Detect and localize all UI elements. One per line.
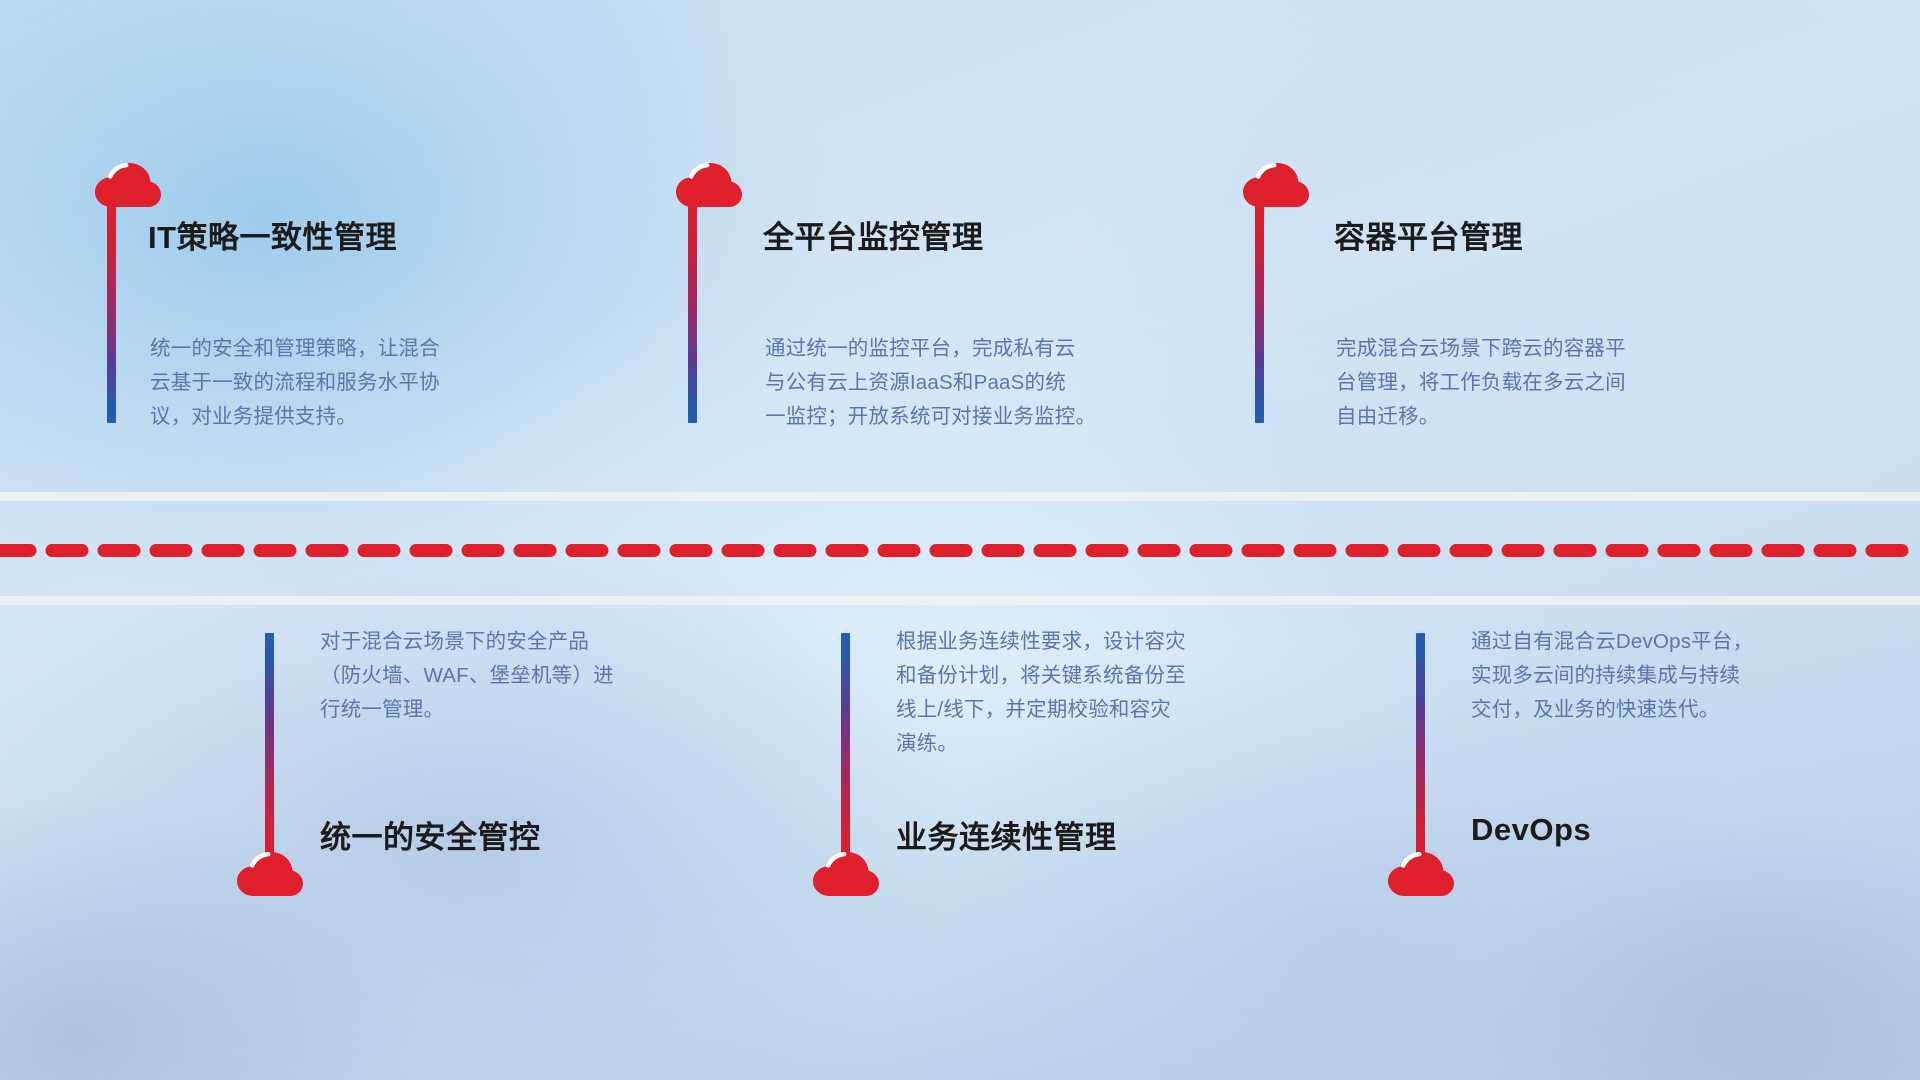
connector-line <box>107 196 116 423</box>
cloud-icon <box>812 849 880 897</box>
cloud-icon <box>675 160 743 208</box>
description-line: 与公有云上资源IaaS和PaaS的统 <box>765 366 1157 400</box>
description-line: 台管理，将工作负载在多云之间 <box>1336 366 1708 400</box>
description-line: 和备份计划，将关键系统备份至 <box>896 659 1268 693</box>
description-line: 通过统一的监控平台，完成私有云 <box>765 332 1157 366</box>
description-line: 实现多云间的持续集成与持续 <box>1471 659 1843 693</box>
item-title: IT策略一致性管理 <box>148 212 397 257</box>
description-line: 通过自有混合云DevOps平台， <box>1471 625 1843 659</box>
item-title: 统一的安全管控 <box>320 812 541 857</box>
cloud-icon <box>236 849 304 897</box>
item-description: 根据业务连续性要求，设计容灾 和备份计划，将关键系统备份至 线上/线下，并定期校… <box>896 625 1268 761</box>
item-description: 通过统一的监控平台，完成私有云 与公有云上资源IaaS和PaaS的统 一监控；开… <box>765 332 1157 434</box>
description-line: 统一的安全和管理策略，让混合 <box>150 332 522 366</box>
description-line: 一监控；开放系统可对接业务监控。 <box>765 400 1157 434</box>
connector-line <box>688 196 697 423</box>
description-line: 议，对业务提供支持。 <box>150 400 522 434</box>
infographic-canvas: IT策略一致性管理 统一的安全和管理策略，让混合 云基于一致的流程和服务水平协 … <box>0 0 1920 1080</box>
connector-line <box>841 633 850 865</box>
dashed-timeline-axis <box>0 544 1920 557</box>
divider-rule-top <box>0 492 1920 501</box>
description-line: 演练。 <box>896 727 1268 761</box>
item-title: DevOps <box>1471 812 1591 848</box>
description-line: 行统一管理。 <box>320 693 692 727</box>
connector-line <box>1416 633 1425 865</box>
connector-line <box>1255 196 1264 423</box>
cloud-icon <box>1242 160 1310 208</box>
item-description: 通过自有混合云DevOps平台， 实现多云间的持续集成与持续 交付，及业务的快速… <box>1471 625 1843 727</box>
divider-rule-bottom <box>0 596 1920 605</box>
description-line: 线上/线下，并定期校验和容灾 <box>896 693 1268 727</box>
item-description: 对于混合云场景下的安全产品 （防火墙、WAF、堡垒机等）进 行统一管理。 <box>320 625 692 727</box>
description-line: 对于混合云场景下的安全产品 <box>320 625 692 659</box>
connector-line <box>265 633 274 865</box>
description-line: 交付，及业务的快速迭代。 <box>1471 693 1843 727</box>
description-line: （防火墙、WAF、堡垒机等）进 <box>320 659 692 693</box>
background-vignette <box>0 0 1920 1080</box>
item-description: 统一的安全和管理策略，让混合 云基于一致的流程和服务水平协 议，对业务提供支持。 <box>150 332 522 434</box>
item-description: 完成混合云场景下跨云的容器平 台管理，将工作负载在多云之间 自由迁移。 <box>1336 332 1708 434</box>
description-line: 根据业务连续性要求，设计容灾 <box>896 625 1268 659</box>
item-title: 业务连续性管理 <box>896 812 1117 857</box>
cloud-icon <box>94 160 162 208</box>
description-line: 云基于一致的流程和服务水平协 <box>150 366 522 400</box>
description-line: 完成混合云场景下跨云的容器平 <box>1336 332 1708 366</box>
description-line: 自由迁移。 <box>1336 400 1708 434</box>
item-title: 容器平台管理 <box>1334 212 1523 257</box>
item-title: 全平台监控管理 <box>763 212 984 257</box>
cloud-icon <box>1387 849 1455 897</box>
